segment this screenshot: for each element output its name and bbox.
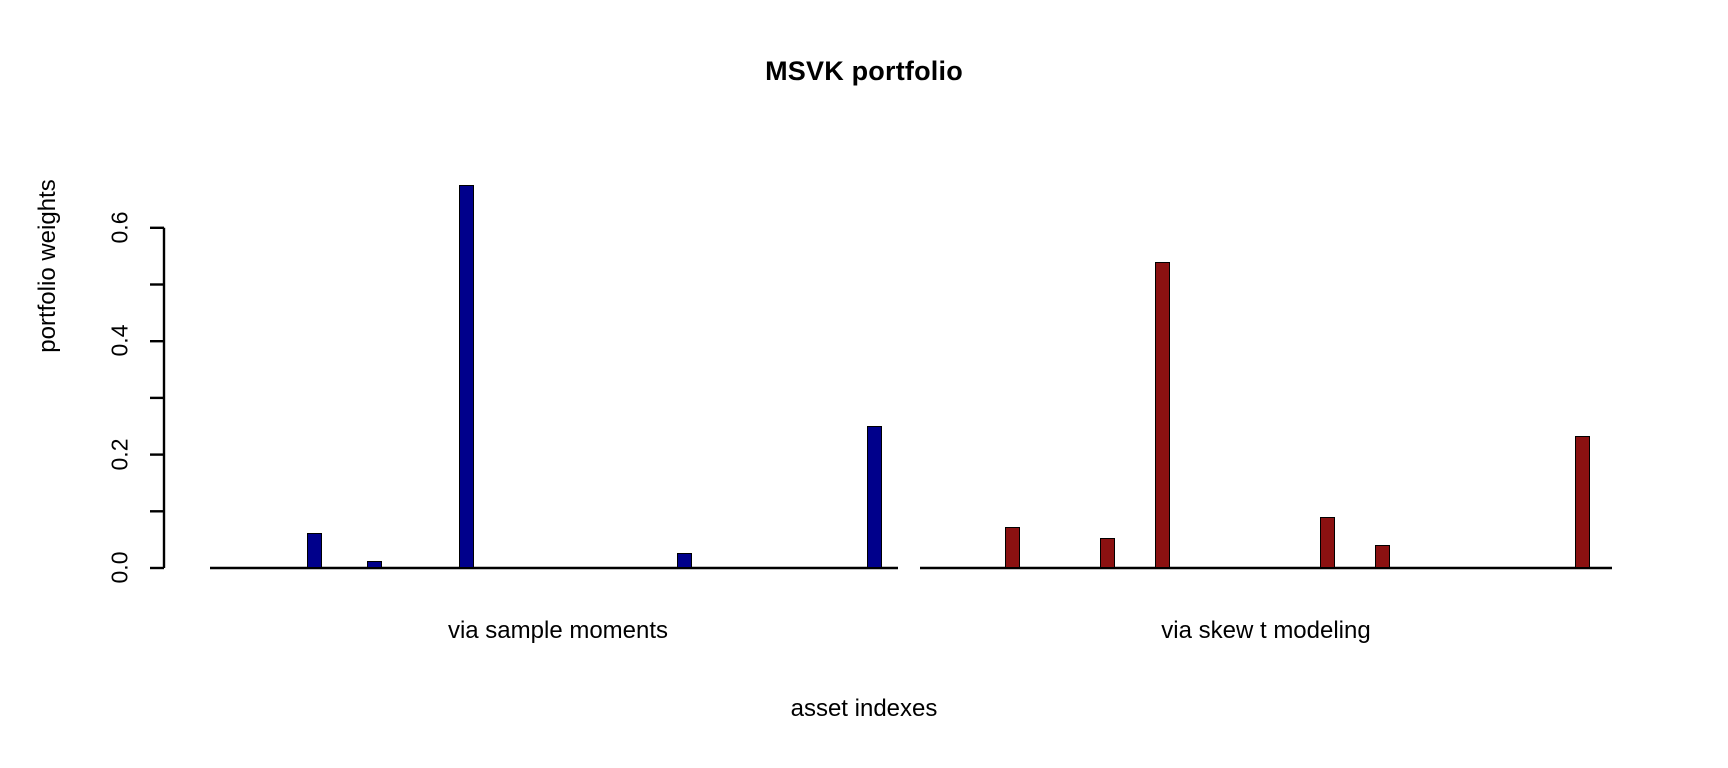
bar: [1005, 527, 1020, 568]
y-tick-label: 0.6: [106, 211, 133, 243]
bar: [307, 533, 322, 568]
y-tick-label: 0.4: [106, 325, 133, 357]
bar: [367, 561, 382, 568]
bar: [1375, 545, 1390, 568]
bar: [677, 553, 692, 568]
bar: [867, 426, 882, 568]
axis-lines: [0, 0, 1728, 768]
bar: [1155, 262, 1170, 568]
group-label: via sample moments: [448, 617, 668, 645]
bar: [459, 185, 474, 568]
y-tick-label: 0.2: [106, 438, 133, 470]
group-label: via skew t modeling: [1161, 617, 1370, 645]
bar: [1575, 436, 1590, 568]
chart-canvas: MSVK portfolio portfolio weights asset i…: [0, 0, 1728, 768]
bar: [1100, 538, 1115, 568]
y-tick-label: 0.0: [106, 552, 133, 584]
bar: [1320, 517, 1335, 568]
